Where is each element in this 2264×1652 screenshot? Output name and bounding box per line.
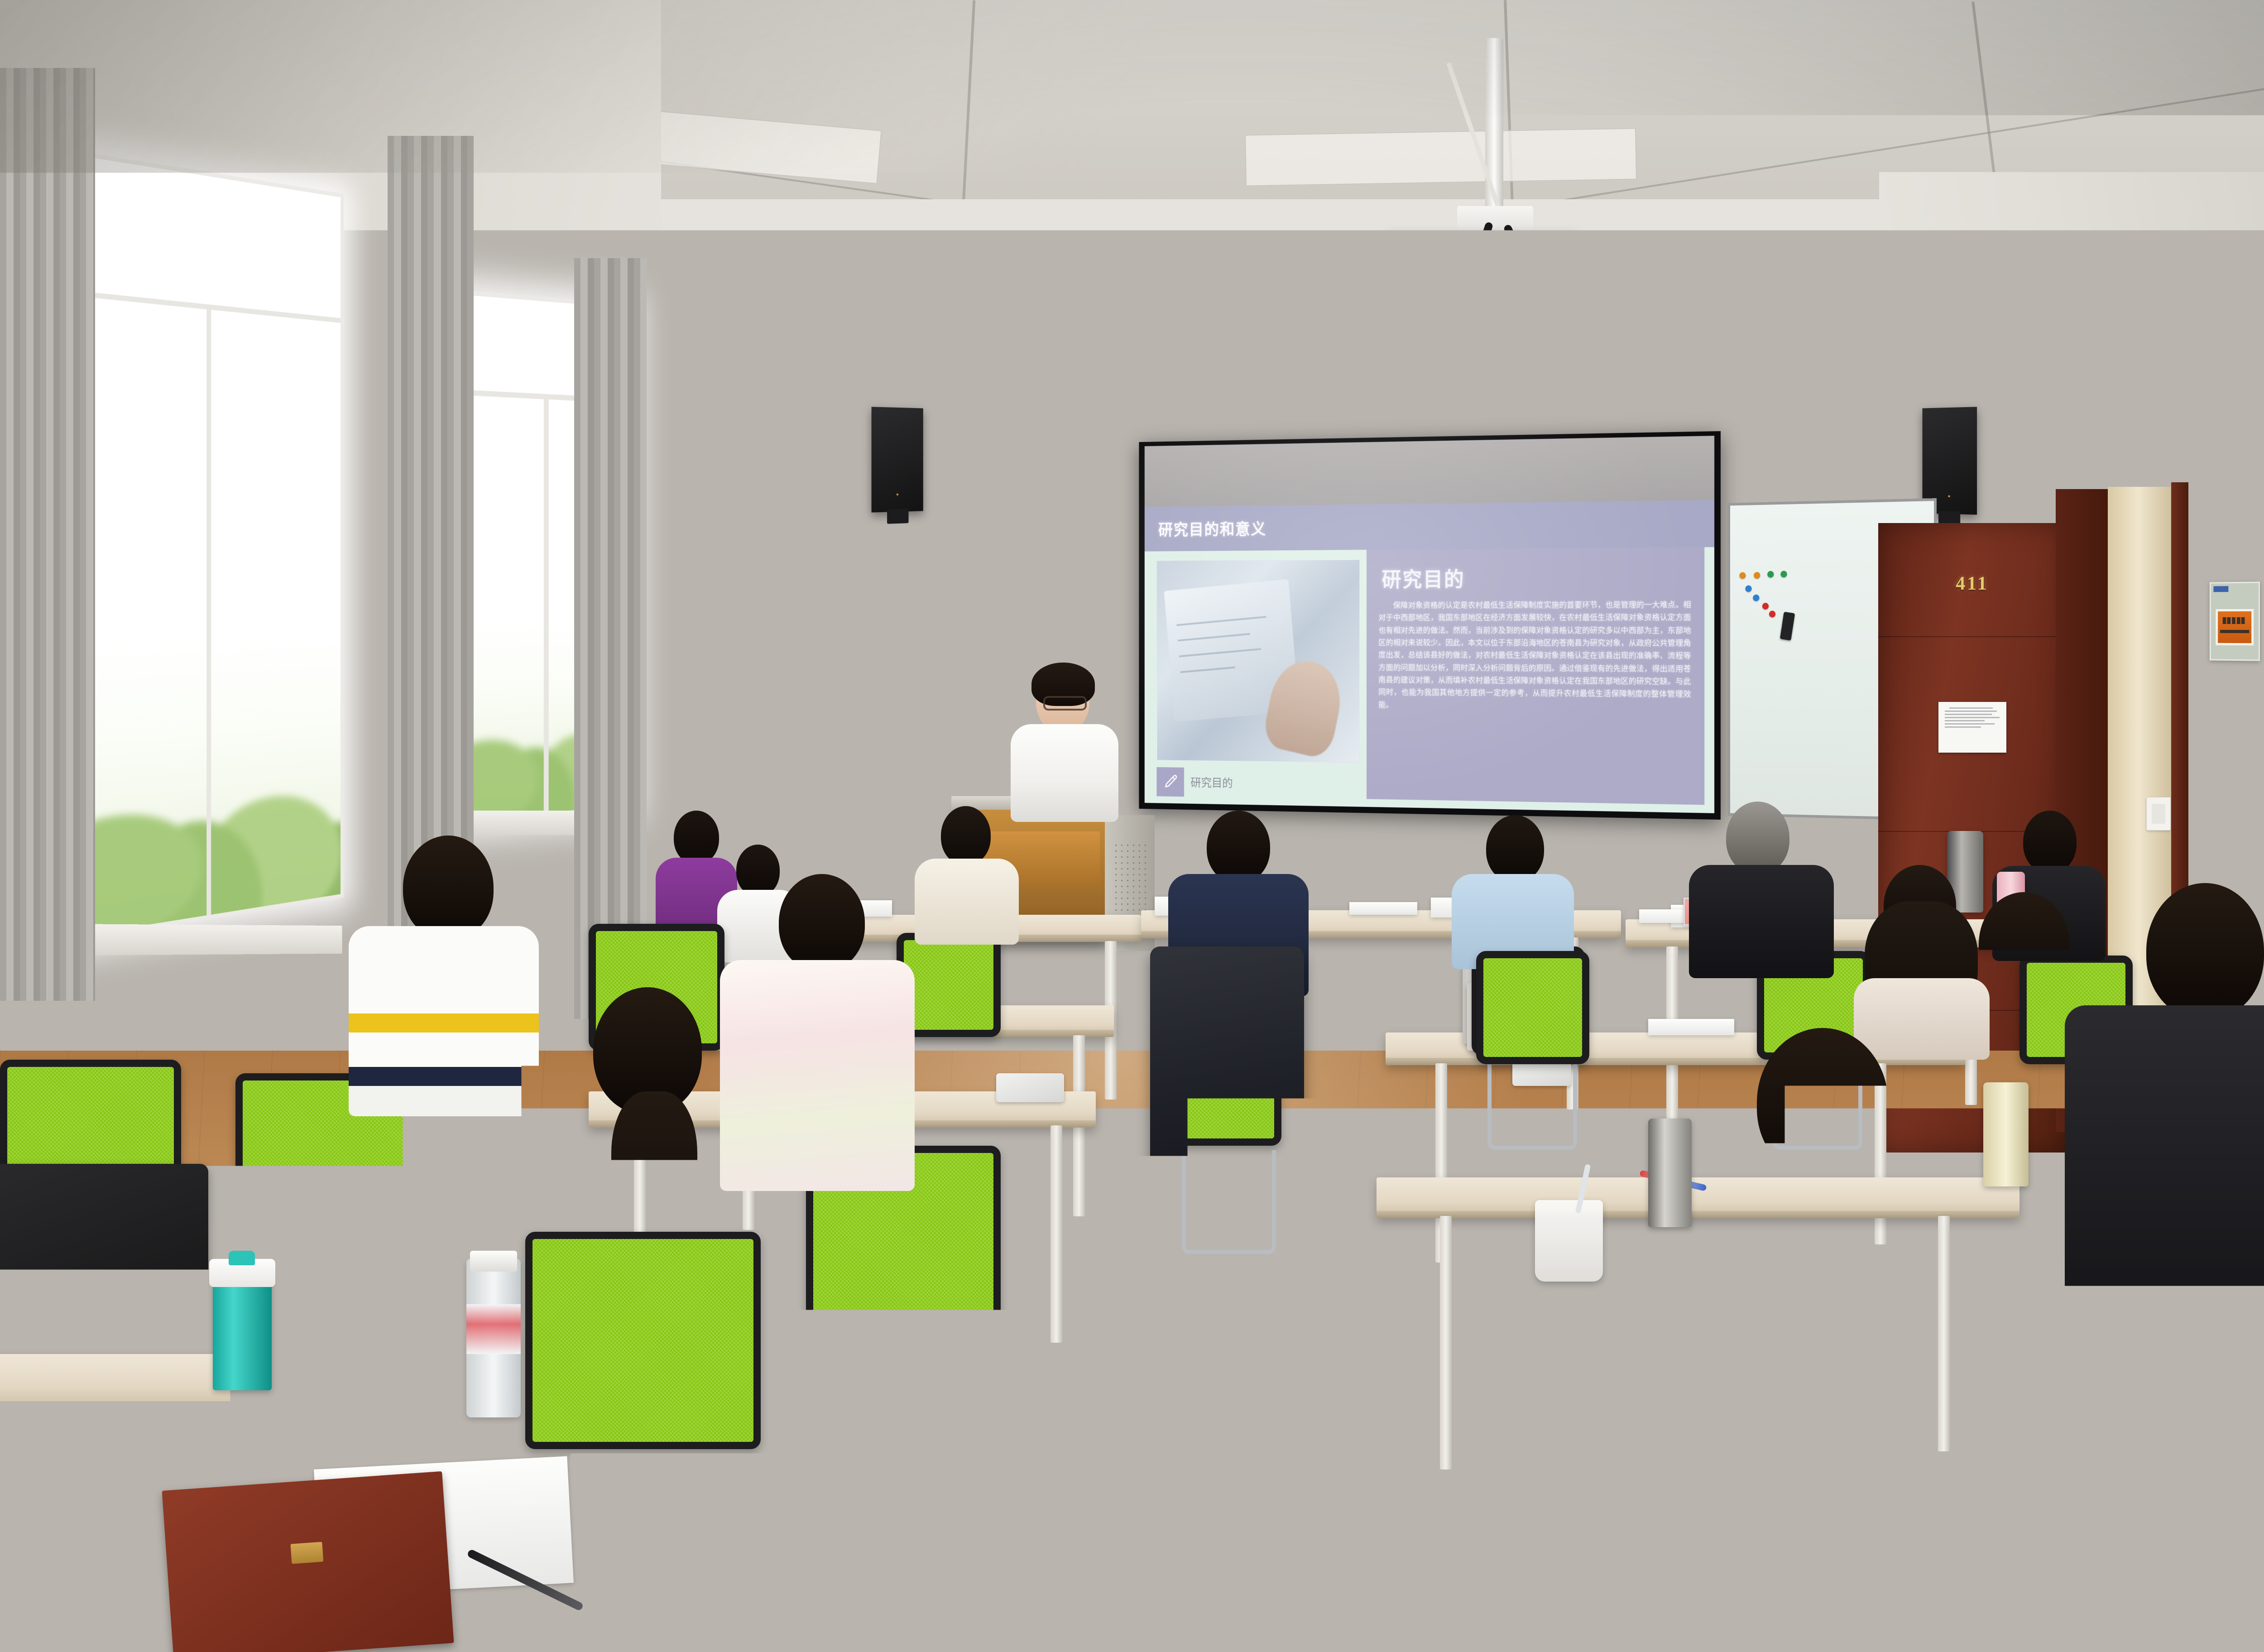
pencil-icon xyxy=(1156,767,1184,797)
draped-jacket xyxy=(1150,946,1304,1227)
presenter-glasses xyxy=(1043,696,1087,711)
slide-paragraph: 保障对象资格的认定是农村最低生活保障制度实施的首要环节，也是管理的一大难点。相对… xyxy=(1378,599,1691,714)
projector-pole xyxy=(1485,38,1503,215)
electrical-breaker-panel[interactable] xyxy=(2210,581,2260,661)
curtain-left-edge xyxy=(0,68,95,1001)
audience-member xyxy=(525,987,761,1368)
thermos-flip-tab[interactable] xyxy=(229,1251,255,1265)
green-magnet xyxy=(1780,571,1787,577)
slide-tag-label: 研究目的 xyxy=(1190,774,1233,791)
backpack xyxy=(1349,1553,1639,1652)
torso xyxy=(2187,1268,2264,1652)
door-number: 411 xyxy=(1956,573,1989,595)
slide-title-bar: 研究目的和意义 xyxy=(1145,500,1714,552)
head xyxy=(1486,815,1544,882)
slide-photo xyxy=(1156,559,1360,763)
blue-magnet xyxy=(1753,595,1759,601)
speaker-brand: ● xyxy=(1947,494,1951,499)
head xyxy=(2146,883,2264,1019)
ceiling-projector xyxy=(1387,232,1578,288)
audience-member xyxy=(2182,1141,2264,1652)
torso xyxy=(534,1182,761,1372)
slide-left-column: 研究目的 xyxy=(1145,550,1367,807)
curtain-right xyxy=(574,258,647,1019)
projector-lens xyxy=(1418,283,1457,296)
red-magnet xyxy=(1769,611,1775,618)
head xyxy=(403,836,494,940)
bottle-label xyxy=(466,1304,521,1354)
table-leg xyxy=(1440,1216,1452,1470)
presenter xyxy=(1001,668,1137,822)
red-magnet xyxy=(1762,603,1769,610)
head xyxy=(941,806,991,865)
breaker-inner xyxy=(2216,609,2254,645)
backpack xyxy=(0,1164,208,1359)
head xyxy=(1979,892,2069,996)
speaker-mount xyxy=(887,509,909,523)
wall-speaker-left: ● xyxy=(872,407,923,512)
blue-magnet xyxy=(1746,586,1752,592)
table-foreground xyxy=(0,1354,679,1408)
committee-member xyxy=(1689,802,1834,974)
orange-magnet xyxy=(1754,572,1760,579)
window-left-far xyxy=(68,149,344,942)
ceiling-light-panel xyxy=(1245,128,1637,186)
projection-screen: 研究目的和意义 xyxy=(1139,431,1721,820)
slide-body: 研究目的 研究目的 保障对象资格的认定是农村最低生活保障制度实施的首要环节，也是… xyxy=(1145,547,1714,813)
green-magnet xyxy=(1767,571,1774,578)
leather-notebook[interactable] xyxy=(162,1471,454,1652)
presenter-torso xyxy=(1011,724,1118,822)
door-notice xyxy=(1938,702,2006,753)
slide-text-panel: 研究目的 保障对象资格的认定是农村最低生活保障制度实施的首要环节，也是管理的一大… xyxy=(1367,547,1704,805)
torso xyxy=(915,859,1019,945)
head xyxy=(674,811,719,864)
audience-member xyxy=(915,806,1019,942)
bottle-cap xyxy=(470,1251,517,1272)
head xyxy=(1726,802,1789,874)
head xyxy=(2023,811,2077,873)
torso xyxy=(349,926,539,1116)
head xyxy=(779,874,865,971)
projector-ports xyxy=(1475,251,1566,283)
audience-member xyxy=(349,836,539,1116)
tote-bag xyxy=(1983,1096,2133,1245)
ac-control-panel[interactable] xyxy=(867,797,938,807)
ac-label xyxy=(926,725,937,743)
slide-title: 研究目的和意义 xyxy=(1158,517,1266,540)
slide-surface: 研究目的和意义 xyxy=(1145,436,1714,813)
ac-vent xyxy=(867,657,938,717)
smartphone[interactable] xyxy=(996,1073,1064,1102)
torso xyxy=(1689,865,1834,978)
table-leg xyxy=(1050,1125,1062,1343)
speaker-brand: ● xyxy=(896,492,899,497)
slide-tag-row: 研究目的 xyxy=(1156,767,1360,800)
panel-tag xyxy=(2214,586,2229,592)
slide-heading: 研究目的 xyxy=(1382,562,1691,592)
head xyxy=(1207,811,1270,883)
audience-member xyxy=(1449,815,1576,965)
chair[interactable] xyxy=(1476,951,1589,1064)
slide-top-band xyxy=(1145,436,1714,507)
orange-magnet xyxy=(1739,572,1746,579)
paper-stack xyxy=(1349,902,1417,915)
notebook-emblem xyxy=(290,1542,323,1564)
chair-sled xyxy=(1487,1060,1577,1150)
torso xyxy=(1639,1209,1974,1652)
whiteboard-eraser[interactable] xyxy=(1780,612,1795,641)
classroom-scene: ● ● 研究目的和意义 xyxy=(0,0,2264,1652)
light-switch[interactable] xyxy=(2146,797,2171,831)
iced-drink-cup xyxy=(1535,1200,1603,1282)
